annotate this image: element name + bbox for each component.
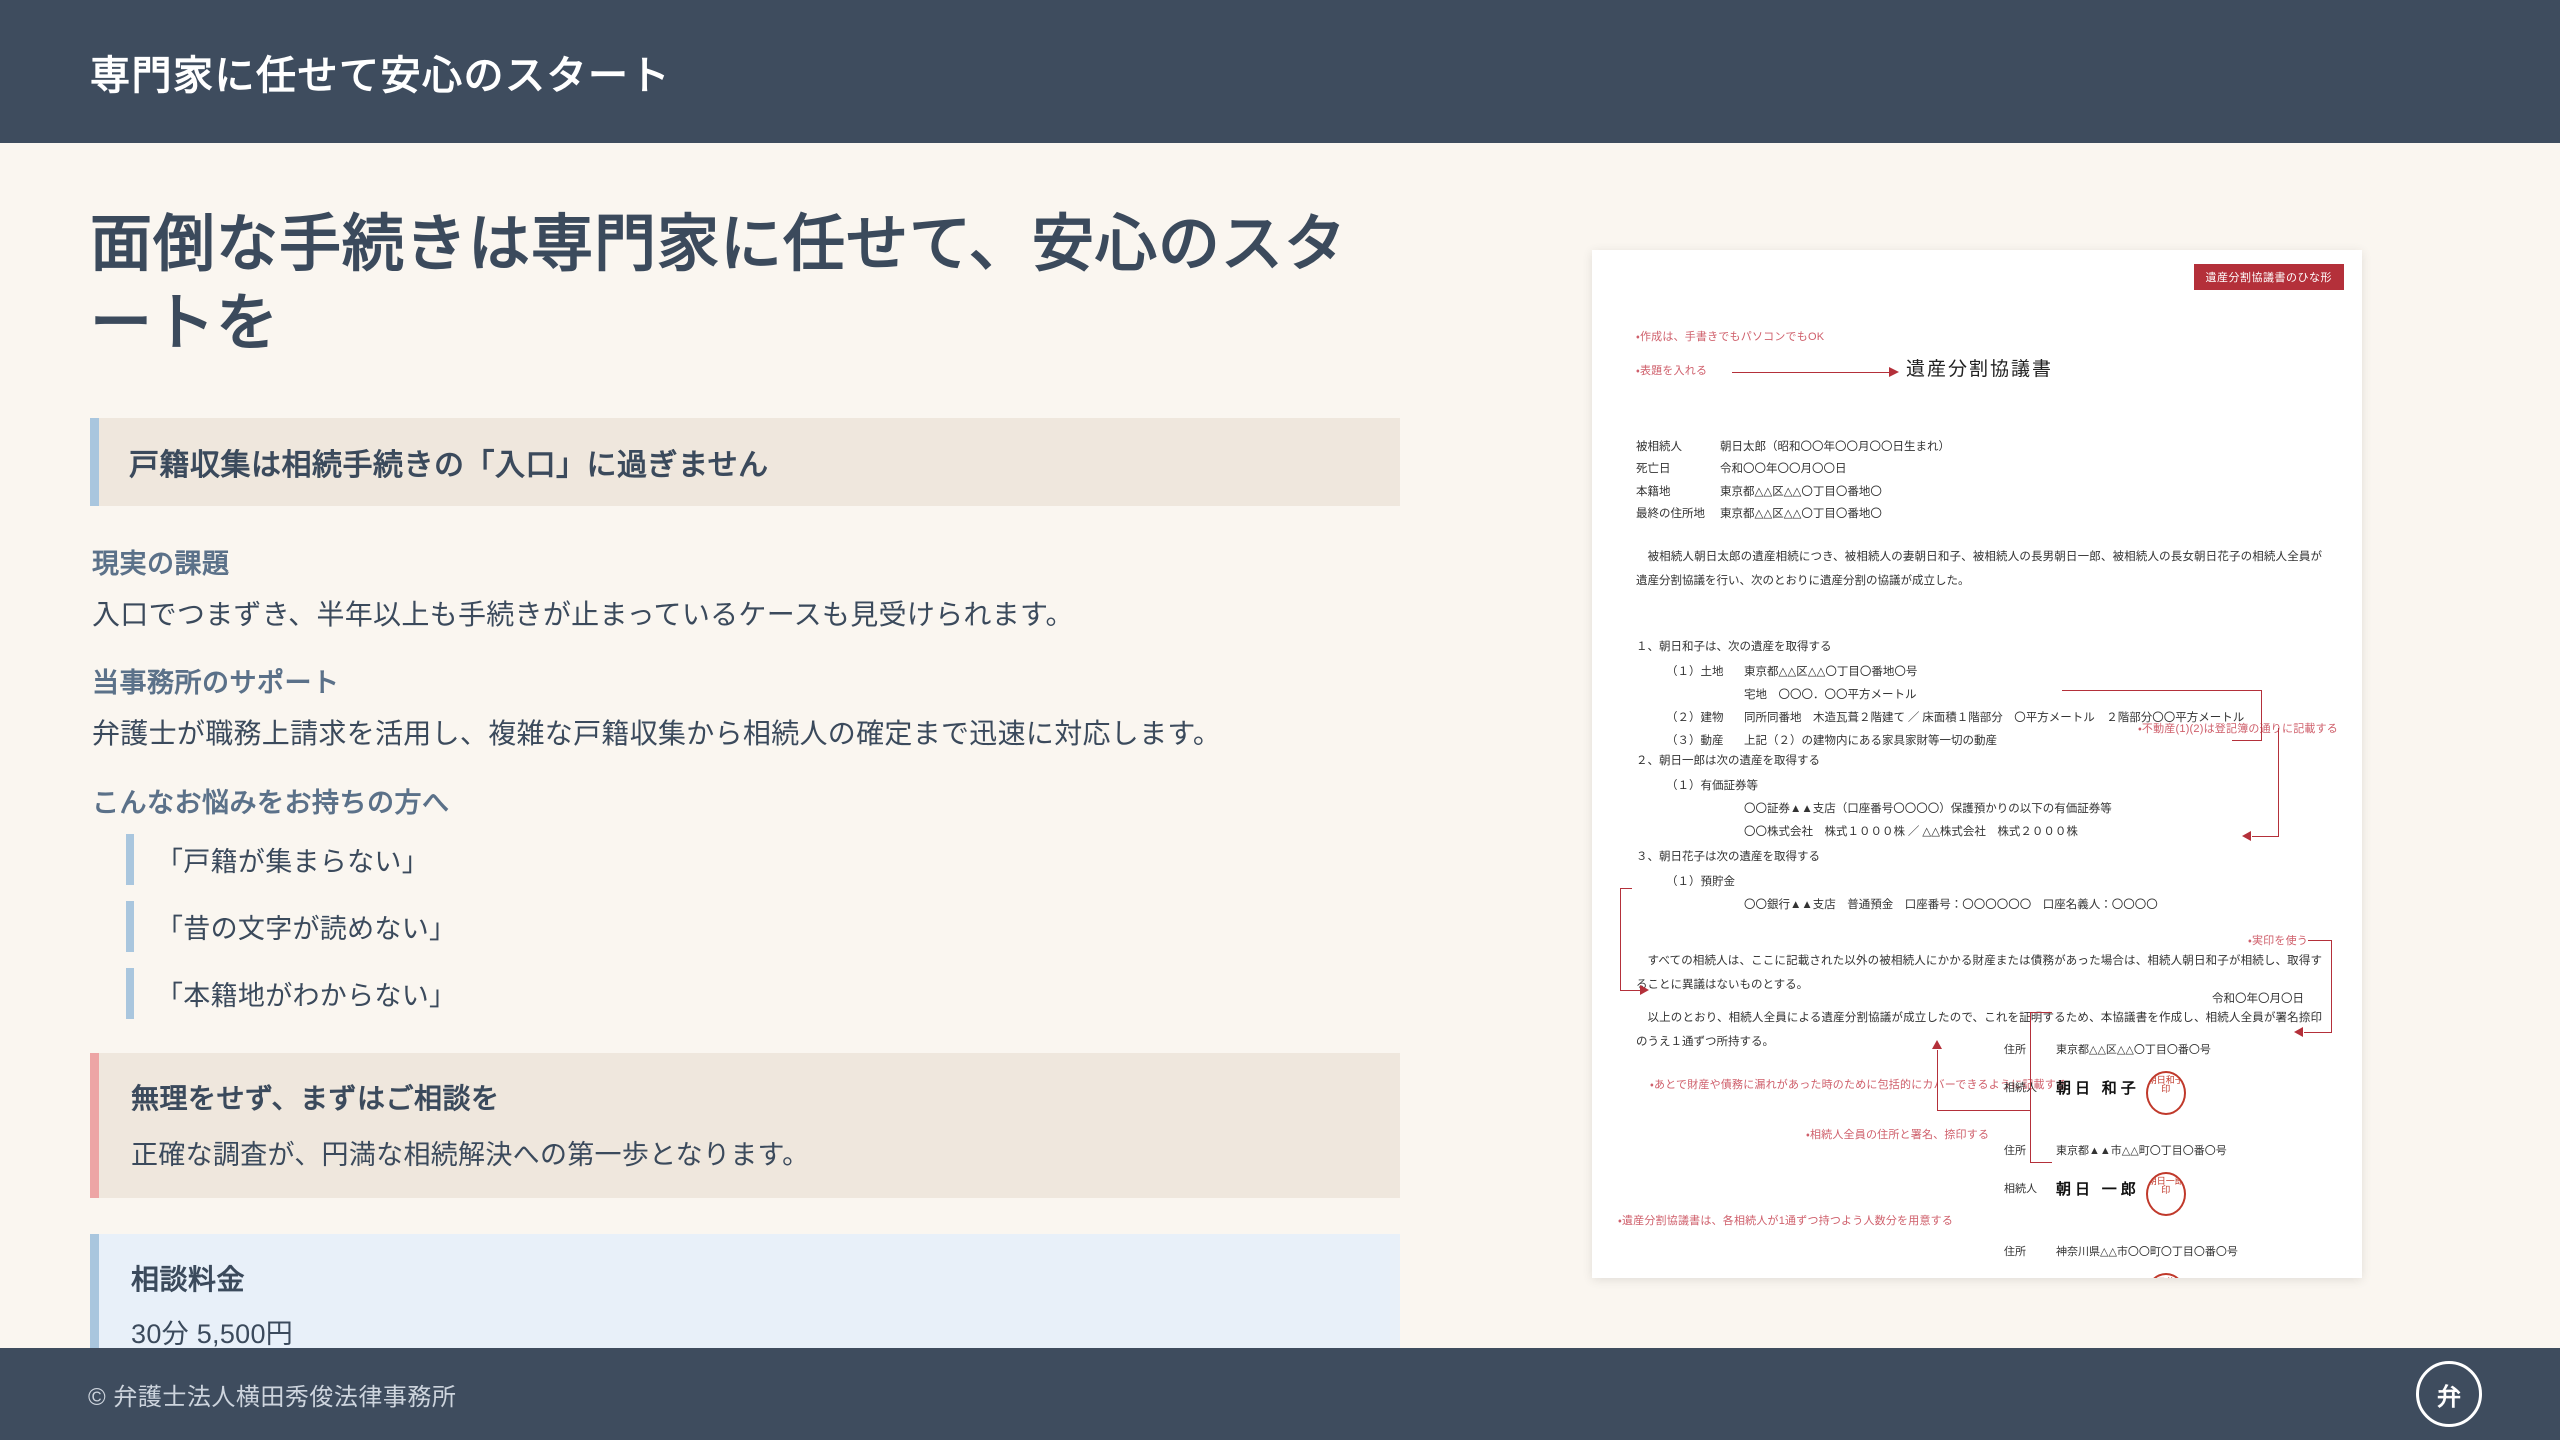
signer-name: 朝日 和子 <box>2056 1075 2140 1104</box>
section-body-issue: 入口でつまずき、半年以上も手続きが止まっているケースも見受けられます。 <box>92 595 1400 636</box>
left-content-column: 面倒な手続きは専門家に任せて、安心のスタートを 戸籍収集は相続手続きの「入口」に… <box>90 205 1400 1426</box>
arrow-head-icon <box>1932 1040 1942 1049</box>
meta-label: 最終の住所地 <box>1636 503 1720 525</box>
concerns-list: 「戸籍が集まらない」 「昔の文字が読めない」 「本籍地がわからない」 <box>126 834 1400 1019</box>
leader-line-icon <box>1620 888 1632 889</box>
annotation-signature: ・相続人全員の住所と署名、捺印する <box>1806 1126 1989 1142</box>
row-value: 宅地 〇〇〇．〇〇平方メートル <box>1744 684 2336 707</box>
meta-label: 本籍地 <box>1636 481 1720 503</box>
arrow-head-icon <box>2242 831 2251 841</box>
firm-logo-badge: 弁 <box>2416 1361 2482 1427</box>
banner-text: 戸籍収集は相続手続きの「入口」に過ぎません <box>129 440 1400 484</box>
page-title: 面倒な手続きは専門家に任せて、安心のスタートを <box>90 205 1380 364</box>
annotation-registered-seal: ・実印を使う <box>2248 932 2308 948</box>
section-current-issue: 現実の課題 入口でつまずき、半年以上も手続きが止まっているケースも見受けられます… <box>90 542 1400 636</box>
signature-entry: 住所 東京都△△区△△〇丁目〇番〇号 相続人 朝日 和子 朝日和子印 <box>2004 1040 2334 1111</box>
cta-body: 正確な調査が、円満な相続解決への第一歩となります。 <box>131 1133 1400 1172</box>
meta-label: 死亡日 <box>1636 458 1720 480</box>
section-3-heading: ３、朝日花子は次の遺産を取得する <box>1636 846 2336 869</box>
footer-bar: © 弁護士法人横田秀俊法律事務所 弁 <box>0 1348 2560 1440</box>
annotation-handwriting: ・作成は、手書きでもパソコンでもOK <box>1636 328 1824 344</box>
table-row: 最終の住所地 東京都△△区△△〇丁目〇番地〇 <box>1636 503 1950 525</box>
fee-line-standard: 30分 5,500円 <box>131 1312 1400 1351</box>
slide-root: 専門家に任せて安心のスタート 面倒な手続きは専門家に任せて、安心のスタートを 戸… <box>0 0 2560 1440</box>
annotation-real-estate: ・不動産(1)(2)は登記簿の通りに記載する <box>2138 720 2338 736</box>
table-row: 本籍地 東京都△△区△△〇丁目〇番地〇 <box>1636 481 1950 503</box>
document-meta-table: 被相続人 朝日太郎（昭和〇〇年〇〇月〇〇日生まれ） 死亡日 令和〇〇年〇〇月〇〇… <box>1636 436 1950 526</box>
row-key: （２）建物 <box>1666 707 1744 730</box>
cta-title: 無理をせず、まずはご相談を <box>131 1077 1400 1117</box>
table-row: 被相続人 朝日太郎（昭和〇〇年〇〇月〇〇日生まれ） <box>1636 436 1950 458</box>
leader-line-icon <box>2278 728 2279 836</box>
leader-line-icon <box>1937 1110 2031 1111</box>
document-intro-paragraph: 被相続人朝日太郎の遺産相続につき、被相続人の妻朝日和子、被相続人の長男朝日一郎、… <box>1636 546 2322 597</box>
table-row: 宅地 〇〇〇．〇〇平方メートル <box>1666 684 2336 707</box>
section-heading-concerns: こんなお悩みをお持ちの方へ <box>92 781 1400 820</box>
meta-value: 東京都△△区△△〇丁目〇番地〇 <box>1720 481 1882 503</box>
signer-name: 朝日 一郎 <box>2056 1176 2140 1205</box>
section-2-heading: ２、朝日一郎は次の遺産を取得する <box>1636 750 2336 773</box>
arrow-head-icon <box>1640 985 1649 995</box>
leader-line-icon <box>2030 1162 2052 1163</box>
section-2-sub: （１）有価証券等 <box>1666 775 2336 798</box>
row-value: 東京都△△区△△〇丁目〇番地〇号 <box>1744 661 2336 684</box>
section-body-support: 弁護士が職務上請求を活用し、複雑な戸籍収集から相続人の確定まで迅速に対応します。 <box>92 714 1400 755</box>
leader-line-icon <box>2308 940 2332 941</box>
table-row: （１）土地 東京都△△区△△〇丁目〇番地〇号 <box>1666 661 2336 684</box>
arrow-head-icon <box>1889 367 1899 377</box>
leader-line-icon <box>2062 690 2262 691</box>
leader-line-icon <box>2030 1012 2052 1013</box>
hanko-seal-icon: 朝日一郎印 <box>2146 1172 2186 1216</box>
sample-document-image: 遺産分割協議書のひな形 ・作成は、手書きでもパソコンでもOK ・表題を入れる 遺… <box>1592 250 2362 1278</box>
section-3-sub: （１）預貯金 <box>1666 871 2336 894</box>
meta-value: 令和〇〇年〇〇月〇〇日 <box>1720 458 1847 480</box>
address-value: 神奈川県△△市〇〇町〇丁目〇番〇号 <box>2056 1242 2238 1263</box>
leader-line-icon <box>2331 940 2332 1032</box>
section-heading-support: 当事務所のサポート <box>92 661 1400 700</box>
section-3-line: 〇〇銀行▲▲支店 普通預金 口座番号：〇〇〇〇〇〇 口座名義人：〇〇〇〇 <box>1744 894 2336 917</box>
meta-label: 被相続人 <box>1636 436 1720 458</box>
leader-line-icon <box>1937 1050 1938 1110</box>
leader-line-icon <box>2304 1032 2332 1033</box>
section-heading-issue: 現実の課題 <box>92 542 1400 581</box>
intro-text: 被相続人朝日太郎の遺産相続につき、被相続人の妻朝日和子、被相続人の長男朝日一郎、… <box>1636 546 2322 593</box>
name-label: 相続人 <box>2004 1179 2056 1200</box>
key-message-banner: 戸籍収集は相続手続きの「入口」に過ぎません <box>90 418 1400 506</box>
table-row: 死亡日 令和〇〇年〇〇月〇〇日 <box>1636 458 1950 480</box>
leader-line-icon <box>2261 690 2262 740</box>
document-section-3: ３、朝日花子は次の遺産を取得する （１）預貯金 〇〇銀行▲▲支店 普通預金 口座… <box>1636 846 2336 917</box>
leader-line-icon <box>1620 990 1642 991</box>
signer-name: 朝日 花子 <box>2056 1276 2140 1278</box>
leader-line-icon <box>2232 740 2262 741</box>
copyright-text: © 弁護士法人横田秀俊法律事務所 <box>88 1377 456 1412</box>
section-our-support: 当事務所のサポート 弁護士が職務上請求を活用し、複雑な戸籍収集から相続人の確定ま… <box>90 661 1400 755</box>
meta-value: 朝日太郎（昭和〇〇年〇〇月〇〇日生まれ） <box>1720 436 1950 458</box>
list-item: 「戸籍が集まらない」 <box>126 834 1400 885</box>
section-1-heading: １、朝日和子は、次の遺産を取得する <box>1636 636 2336 659</box>
leader-line-icon <box>2252 836 2279 837</box>
top-header-bar: 専門家に任せて安心のスタート <box>0 0 2560 143</box>
header-title: 専門家に任せて安心のスタート <box>90 43 671 101</box>
document-badge: 遺産分割協議書のひな形 <box>2194 264 2345 290</box>
signature-block: 住所 東京都△△区△△〇丁目〇番〇号 相続人 朝日 和子 朝日和子印 住所 東京… <box>2004 1040 2334 1278</box>
fee-title: 相談料金 <box>131 1258 1400 1298</box>
leader-line-icon <box>2030 1012 2031 1162</box>
signature-entry: 住所 東京都▲▲市△△町〇丁目〇番〇号 相続人 朝日 一郎 朝日一郎印 <box>2004 1141 2334 1212</box>
consultation-cta-box: 無理をせず、まずはご相談を 正確な調査が、円満な相続解決への第一歩となります。 <box>90 1053 1400 1198</box>
list-item: 「本籍地がわからない」 <box>126 968 1400 1019</box>
row-key: （１）土地 <box>1666 661 1744 684</box>
row-key <box>1666 684 1744 707</box>
document-date: 令和〇年〇月〇日 <box>2212 990 2304 1006</box>
annotation-title-note: ・表題を入れる <box>1636 362 1707 378</box>
address-value: 東京都△△区△△〇丁目〇番〇号 <box>2056 1040 2211 1061</box>
address-label: 住所 <box>2004 1242 2056 1263</box>
leader-line-icon <box>1620 888 1621 990</box>
list-item: 「昔の文字が読めない」 <box>126 901 1400 952</box>
section-common-concerns: こんなお悩みをお持ちの方へ 「戸籍が集まらない」 「昔の文字が読めない」 「本籍… <box>90 781 1400 1019</box>
arrow-head-icon <box>2294 1027 2303 1037</box>
address-value: 東京都▲▲市△△町〇丁目〇番〇号 <box>2056 1141 2227 1162</box>
section-2-line: 〇〇証券▲▲支店（口座番号〇〇〇〇）保護預かりの以下の有価証券等 <box>1744 798 2336 821</box>
document-section-2: ２、朝日一郎は次の遺産を取得する （１）有価証券等 〇〇証券▲▲支店（口座番号〇… <box>1636 750 2336 844</box>
hanko-seal-icon: 朝日花子印 <box>2146 1273 2186 1278</box>
arrow-line-icon <box>1732 372 1892 373</box>
hanko-seal-icon: 朝日和子印 <box>2146 1071 2186 1115</box>
document-title: 遺産分割協議書 <box>1906 354 2053 381</box>
annotation-copies: ・遺産分割協議書は、各相続人が1通ずつ持つよう人数分を用意する <box>1618 1212 1953 1228</box>
meta-value: 東京都△△区△△〇丁目〇番地〇 <box>1720 503 1882 525</box>
signature-entry: 住所 神奈川県△△市〇〇町〇丁目〇番〇号 相続人 朝日 花子 朝日花子印 <box>2004 1242 2334 1278</box>
